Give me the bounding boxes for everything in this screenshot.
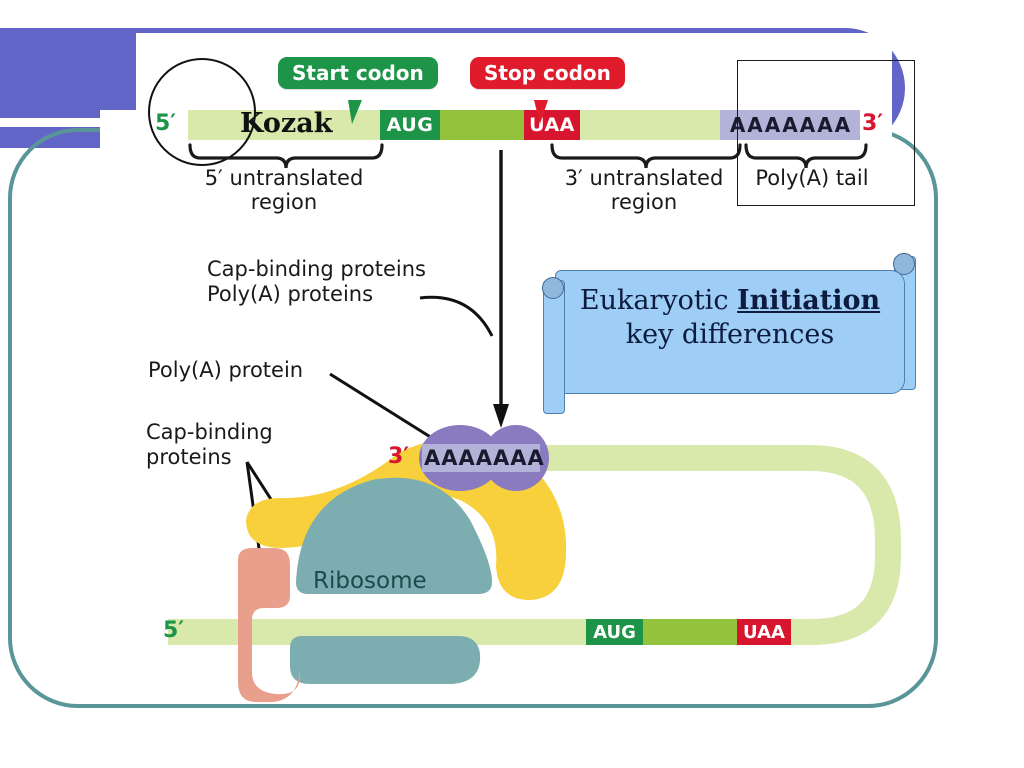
cap-binding-proteins-label: Cap-binding proteins [146, 420, 273, 470]
five-prime-label-lower: 5′ [163, 618, 184, 643]
poly-a-protein-label: Poly(A) protein [148, 358, 303, 383]
five-utr-caption: 5′ untranslated region [178, 166, 390, 214]
scroll-knob-left [542, 277, 564, 299]
scroll-line2: key differences [626, 319, 835, 350]
scroll-curl-left [543, 280, 565, 414]
three-utr-segment [580, 110, 720, 140]
five-prime-highlight-circle [148, 58, 256, 166]
ribosome-label: Ribosome [313, 568, 427, 594]
lower-start-codon-box: AUG [586, 619, 643, 645]
scroll-text: Eukaryotic Initiation key differences [567, 284, 893, 352]
stop-codon-box: UAA [524, 110, 580, 140]
lower-stop-codon-box: UAA [737, 619, 791, 645]
scroll-banner: Eukaryotic Initiation key differences [541, 262, 916, 402]
start-codon-callout: Start codon [278, 57, 438, 89]
scroll-line1-prefix: Eukaryotic [580, 285, 737, 316]
slide-canvas: AUG UAA AAAAAAA 5′ 3′ Kozak Start codon … [0, 0, 1024, 768]
three-prime-label-lower: 3′ [388, 444, 409, 469]
cap-binding-polya-proteins-label: Cap-binding proteins Poly(A) proteins [207, 257, 426, 307]
poly-a-tail-caption: Poly(A) tail [742, 166, 882, 190]
scroll-line1-emphasis: Initiation [737, 285, 880, 316]
stop-codon-callout: Stop codon [470, 57, 625, 89]
poly-a-sequence-lower: AAAAAAA [424, 446, 545, 470]
three-utr-caption: 3′ untranslated region [540, 166, 748, 214]
start-codon-box: AUG [380, 110, 440, 140]
